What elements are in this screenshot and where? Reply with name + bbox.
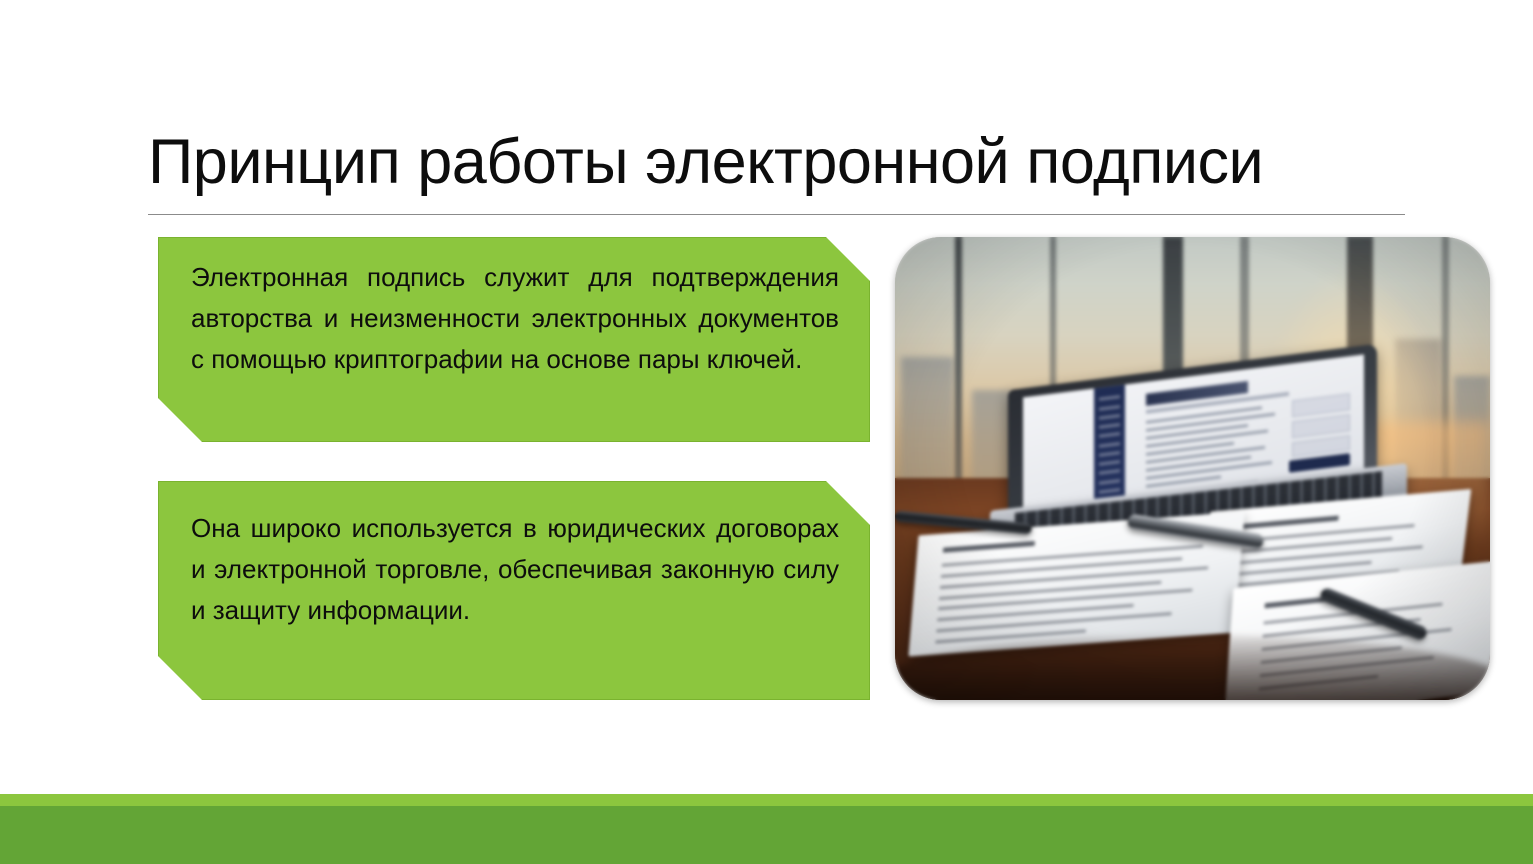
callout-box-1: Электронная подпись служит для подтвержд… bbox=[158, 237, 870, 442]
callout-2-text: Она широко используется в юридических до… bbox=[191, 508, 839, 631]
footer-band-dark bbox=[0, 806, 1533, 864]
skyline-building bbox=[901, 357, 955, 496]
slide: Принцип работы электронной подписи Элект… bbox=[0, 0, 1533, 864]
page-title: Принцип работы электронной подписи bbox=[148, 123, 1408, 201]
window-mullion bbox=[955, 237, 962, 496]
footer-band-light bbox=[0, 794, 1533, 806]
slide-photo bbox=[895, 237, 1490, 700]
callout-box-2: Она широко используется в юридических до… bbox=[158, 481, 870, 700]
callout-1-text: Электронная подпись служит для подтвержд… bbox=[191, 257, 839, 380]
title-divider bbox=[148, 214, 1405, 215]
photo-illustration bbox=[895, 237, 1490, 700]
